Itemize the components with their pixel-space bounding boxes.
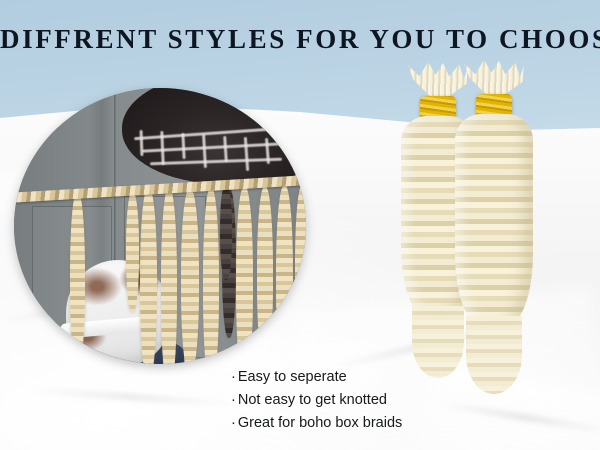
braid-strand [181, 189, 199, 364]
braid-strand [140, 188, 157, 364]
braid-strand [220, 184, 232, 280]
feature-list: ·Easy to seperate ·Not easy to get knott… [231, 366, 491, 435]
braid-strand [257, 187, 273, 364]
list-item-label: Easy to seperate [238, 369, 347, 385]
braid-strand [236, 187, 253, 364]
braid-strand [161, 188, 177, 364]
braid-strand [203, 188, 219, 364]
braid-strand [276, 186, 293, 364]
braid-strand [70, 192, 85, 364]
banner-title: DIFFRENT STYLES FOR YOU TO CHOOSE [0, 24, 600, 55]
list-item-label: Great for boho box braids [238, 415, 402, 431]
list-item: ·Great for boho box braids [231, 412, 491, 435]
braid-strand [295, 186, 306, 356]
bullet-icon: · [231, 392, 236, 408]
bullet-icon: · [231, 369, 236, 385]
bundle-deep-wave-body [455, 114, 533, 326]
braid-strand [126, 192, 139, 312]
list-item-label: Not easy to get knotted [238, 392, 387, 408]
list-item: ·Not easy to get knotted [231, 389, 491, 412]
promo-banner: DIFFRENT STYLES FOR YOU TO CHOOSE ·Easy … [0, 0, 600, 450]
list-item: ·Easy to seperate [231, 366, 491, 389]
lifestyle-photo-oval [14, 88, 306, 364]
bullet-icon: · [231, 415, 236, 431]
